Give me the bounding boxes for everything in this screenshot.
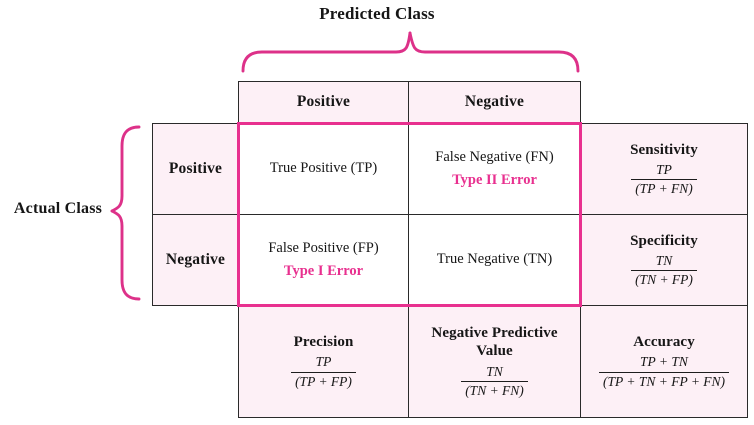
metric-sensitivity-numerator: TP [652, 162, 676, 179]
actual-class-brace [112, 127, 139, 299]
metric-precision-numerator: TP [312, 354, 336, 371]
metric-sensitivity: Sensitivity TP (TP + FN) [580, 123, 748, 215]
metric-precision: Precision TP (TP + FP) [238, 305, 409, 418]
column-header-positive: Positive [238, 81, 409, 123]
metric-specificity-name: Specificity [630, 232, 698, 250]
column-header-negative: Negative [408, 81, 581, 123]
metric-specificity: Specificity TN (TN + FP) [580, 214, 748, 306]
cell-false-negative-error-label: Type II Error [452, 170, 537, 190]
metric-accuracy-numerator: TP + TN [636, 354, 692, 371]
metric-accuracy-name: Accuracy [633, 333, 695, 351]
metric-sensitivity-denominator: (TP + FN) [631, 179, 697, 197]
metric-npv-denominator: (TN + FN) [461, 381, 528, 399]
metric-npv-name: Negative Predictive Value [420, 324, 570, 361]
metric-precision-denominator: (TP + FP) [291, 372, 356, 390]
row-header-negative-label: Negative [166, 251, 225, 269]
row-header-positive-label: Positive [169, 160, 222, 178]
metric-precision-name: Precision [294, 333, 354, 351]
cell-false-positive: False Positive (FP) Type I Error [238, 214, 409, 306]
metric-specificity-formula: TN (TN + FP) [631, 253, 697, 288]
metric-specificity-numerator: TN [652, 253, 677, 270]
column-header-positive-label: Positive [297, 93, 350, 111]
cell-false-negative-label: False Negative (FN) [435, 148, 553, 168]
confusion-matrix-table: Positive Negative Positive True Positive… [152, 81, 748, 418]
row-header-positive: Positive [152, 123, 239, 215]
cell-false-positive-label: False Positive (FP) [268, 239, 378, 259]
cell-true-positive: True Positive (TP) [238, 123, 409, 215]
metric-npv-numerator: TN [482, 364, 507, 381]
column-header-negative-label: Negative [465, 93, 524, 111]
cell-true-negative: True Negative (TN) [408, 214, 581, 306]
metric-sensitivity-formula: TP (TP + FN) [631, 162, 697, 197]
actual-class-title: Actual Class [6, 200, 110, 218]
metric-sensitivity-name: Sensitivity [630, 141, 698, 159]
metric-accuracy-denominator: (TP + TN + FP + FN) [599, 372, 729, 390]
predicted-class-title: Predicted Class [0, 4, 754, 24]
metric-accuracy-formula: TP + TN (TP + TN + FP + FN) [599, 354, 729, 389]
metric-accuracy: Accuracy TP + TN (TP + TN + FP + FN) [580, 305, 748, 418]
cell-false-negative: False Negative (FN) Type II Error [408, 123, 581, 215]
cell-true-negative-label: True Negative (TN) [437, 250, 552, 270]
predicted-class-brace [243, 33, 578, 71]
row-header-negative: Negative [152, 214, 239, 306]
metric-npv-formula: TN (TN + FN) [461, 364, 528, 399]
cell-true-positive-label: True Positive (TP) [270, 159, 377, 179]
metric-precision-formula: TP (TP + FP) [291, 354, 356, 389]
metric-npv: Negative Predictive Value TN (TN + FN) [408, 305, 581, 418]
metric-specificity-denominator: (TN + FP) [631, 270, 697, 288]
cell-false-positive-error-label: Type I Error [284, 261, 363, 281]
